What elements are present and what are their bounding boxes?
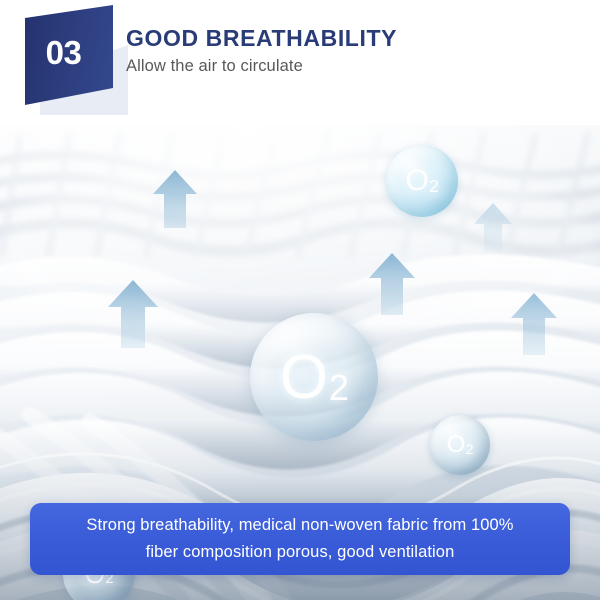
o2-subscript: 2 [429, 176, 439, 197]
o2-subscript: 2 [466, 441, 474, 457]
page-subtitle: Allow the air to circulate [126, 57, 576, 77]
caption-banner: Strong breathability, medical non-woven … [30, 503, 570, 575]
o2-letter: O [447, 431, 466, 459]
o2-letter: O [280, 342, 328, 413]
header-text-block: GOOD BREATHABILITY Allow the air to circ… [126, 26, 576, 77]
caption-line-2: fiber composition porous, good ventilati… [146, 539, 455, 566]
header: 03 GOOD BREATHABILITY Allow the air to c… [0, 0, 600, 125]
o2-bubble-top-right: O2 [386, 145, 458, 217]
airflow-arrow-3 [369, 253, 415, 315]
airflow-arrow-5 [511, 293, 557, 355]
o2-bubble-label: O2 [430, 415, 490, 475]
o2-bubble-large: O2 [250, 313, 378, 441]
o2-bubble-label: O2 [386, 145, 458, 217]
airflow-arrow-2 [474, 203, 512, 253]
o2-bubble-label: O2 [250, 313, 378, 441]
caption-line-1: Strong breathability, medical non-woven … [86, 512, 513, 539]
infographic-slide: 03 GOOD BREATHABILITY Allow the air to c… [0, 0, 600, 600]
airflow-arrow-4 [108, 280, 158, 348]
o2-bubble-small-right: O2 [430, 415, 490, 475]
page-title: GOOD BREATHABILITY [126, 26, 576, 51]
badge-number: 03 [18, 3, 106, 103]
airflow-arrow-1 [153, 170, 197, 228]
step-badge: 03 [18, 3, 128, 115]
o2-letter: O [405, 164, 428, 198]
o2-subscript: 2 [329, 367, 349, 409]
